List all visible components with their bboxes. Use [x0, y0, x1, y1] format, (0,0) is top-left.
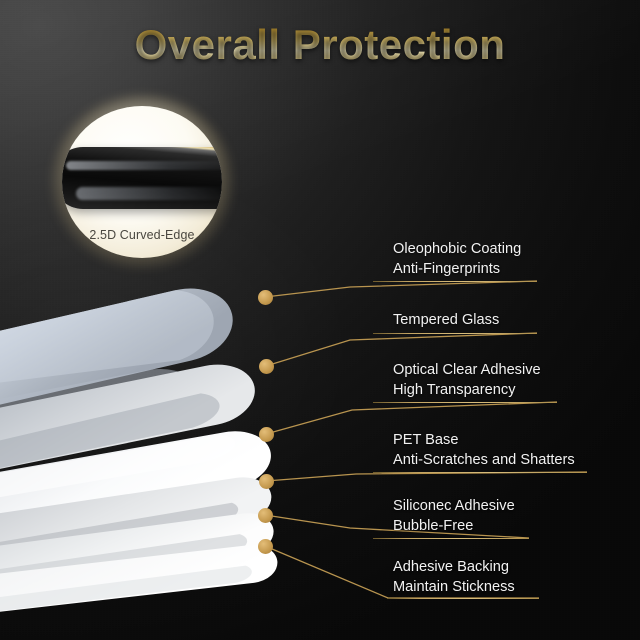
callout-line1: Siliconec Adhesive	[393, 498, 515, 514]
callout-group: Oleophobic Coating Anti-Fingerprints Tem…	[0, 0, 640, 640]
callout-line1: Adhesive Backing	[393, 559, 509, 575]
callout-underline-4	[373, 472, 587, 473]
callout-line2: Maintain Stickness	[393, 578, 515, 598]
callout-dot-adhesive-backing[interactable]	[258, 539, 273, 554]
callout-label-tempered-glass: Tempered Glass	[393, 311, 499, 331]
callout-label-optical-clear-adhesive: Optical Clear Adhesive High Transparency	[393, 361, 541, 400]
callout-line2: High Transparency	[393, 381, 541, 401]
product-infographic: Overall Protection	[0, 0, 640, 640]
callout-dot-pet-base[interactable]	[259, 474, 274, 489]
callout-underline-6	[387, 598, 539, 599]
callout-label-oleophobic-coating: Oleophobic Coating Anti-Fingerprints	[393, 240, 521, 279]
callout-label-pet-base: PET Base Anti-Scratches and Shatters	[393, 431, 575, 470]
callout-dot-tempered-glass[interactable]	[259, 359, 274, 374]
callout-label-siliconec-adhesive: Siliconec Adhesive Bubble-Free	[393, 497, 515, 536]
callout-underline-5	[373, 538, 529, 539]
callout-line1: Optical Clear Adhesive	[393, 362, 541, 378]
callout-line2: Anti-Fingerprints	[393, 260, 521, 280]
callout-line1: PET Base	[393, 432, 458, 448]
callout-underline-3	[373, 402, 557, 403]
callout-line2: Anti-Scratches and Shatters	[393, 451, 575, 471]
callout-dot-oleophobic-coating[interactable]	[258, 290, 273, 305]
callout-underline-2	[373, 333, 537, 334]
callout-line2: Bubble-Free	[393, 517, 515, 537]
callout-line1: Oleophobic Coating	[393, 241, 521, 257]
callout-dot-siliconec-adhesive[interactable]	[258, 508, 273, 523]
callout-line1: Tempered Glass	[393, 312, 499, 328]
callout-underline-1	[373, 281, 537, 282]
callout-label-adhesive-backing: Adhesive Backing Maintain Stickness	[393, 558, 515, 597]
callout-dot-optical-clear-adhesive[interactable]	[259, 427, 274, 442]
